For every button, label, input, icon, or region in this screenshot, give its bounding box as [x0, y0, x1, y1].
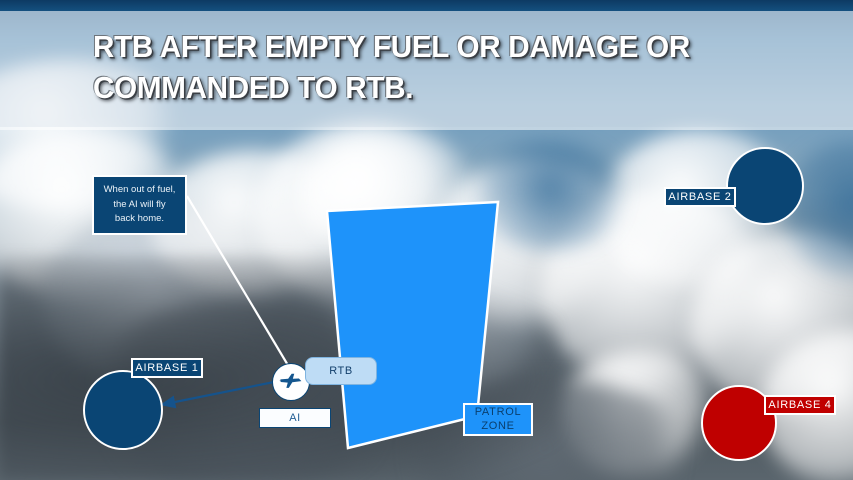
airbase-4-label[interactable]: AIRBASE 4 — [764, 395, 836, 415]
fuel-callout-box: When out of fuel, the AI will fly back h… — [92, 175, 187, 235]
airbase-2-label[interactable]: AIRBASE 2 — [664, 187, 736, 207]
fighter-jet-icon — [278, 369, 304, 395]
page-title: RTB AFTER EMPTY FUEL OR DAMAGE OR COMMAN… — [93, 26, 762, 108]
ai-unit-label[interactable]: AI — [259, 408, 331, 428]
airbase-2-marker[interactable] — [726, 147, 804, 225]
airbase-1-marker[interactable] — [83, 370, 163, 450]
patrol-zone-label[interactable]: PATROL ZONE — [463, 403, 533, 436]
top-accent-strip — [0, 0, 853, 11]
slide-canvas: RTB AFTER EMPTY FUEL OR DAMAGE OR COMMAN… — [0, 0, 853, 480]
title-band-edge — [0, 127, 853, 130]
rtb-state-bubble[interactable]: RTB — [305, 357, 377, 385]
airbase-1-label[interactable]: AIRBASE 1 — [131, 358, 203, 378]
